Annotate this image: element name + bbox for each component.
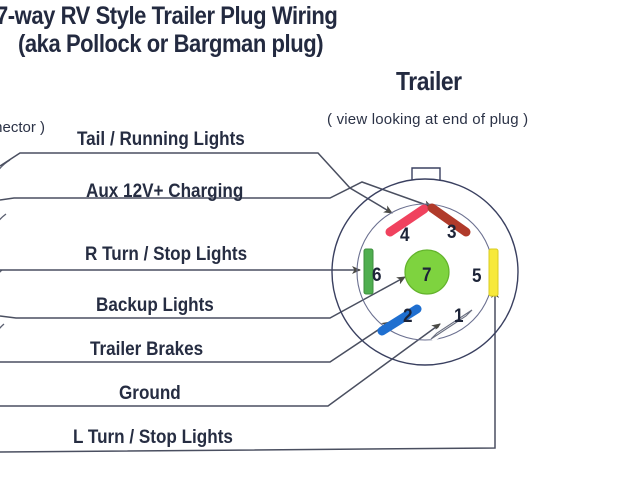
pin-number-3: 3 <box>447 222 457 244</box>
pin-number-7: 7 <box>422 265 432 287</box>
wire-label: Trailer Brakes <box>90 339 203 361</box>
connector-note: connector ) <box>0 119 45 136</box>
wiring-diagram-page: 7-way RV Style Trailer Plug Wiring (aka … <box>0 0 640 480</box>
wire-label: Tail / Running Lights <box>77 129 245 151</box>
page-title-line-2: (aka Pollock or Bargman plug) <box>18 30 323 59</box>
pin-number-1: 1 <box>454 306 464 328</box>
pin-number-4: 4 <box>400 225 410 247</box>
wire-label: Aux 12V+ Charging <box>86 181 243 203</box>
pin-blade-5 <box>489 249 498 296</box>
wire-label: L Turn / Stop Lights <box>73 427 233 449</box>
trailer-subtitle: ( view looking at end of plug ) <box>327 111 528 128</box>
cable-bundle <box>0 160 10 352</box>
pin-number-5: 5 <box>472 266 482 288</box>
trailer-heading: Trailer <box>396 66 462 97</box>
pin-number-6: 6 <box>372 265 382 287</box>
page-title-line-1: 7-way RV Style Trailer Plug Wiring <box>0 2 337 31</box>
wire-ground <box>0 324 440 406</box>
diagram-canvas <box>0 0 640 480</box>
wire-label: Backup Lights <box>96 295 214 317</box>
wire-label: Ground <box>119 383 181 405</box>
wire-label: R Turn / Stop Lights <box>85 244 247 266</box>
pin-number-2: 2 <box>403 306 413 328</box>
